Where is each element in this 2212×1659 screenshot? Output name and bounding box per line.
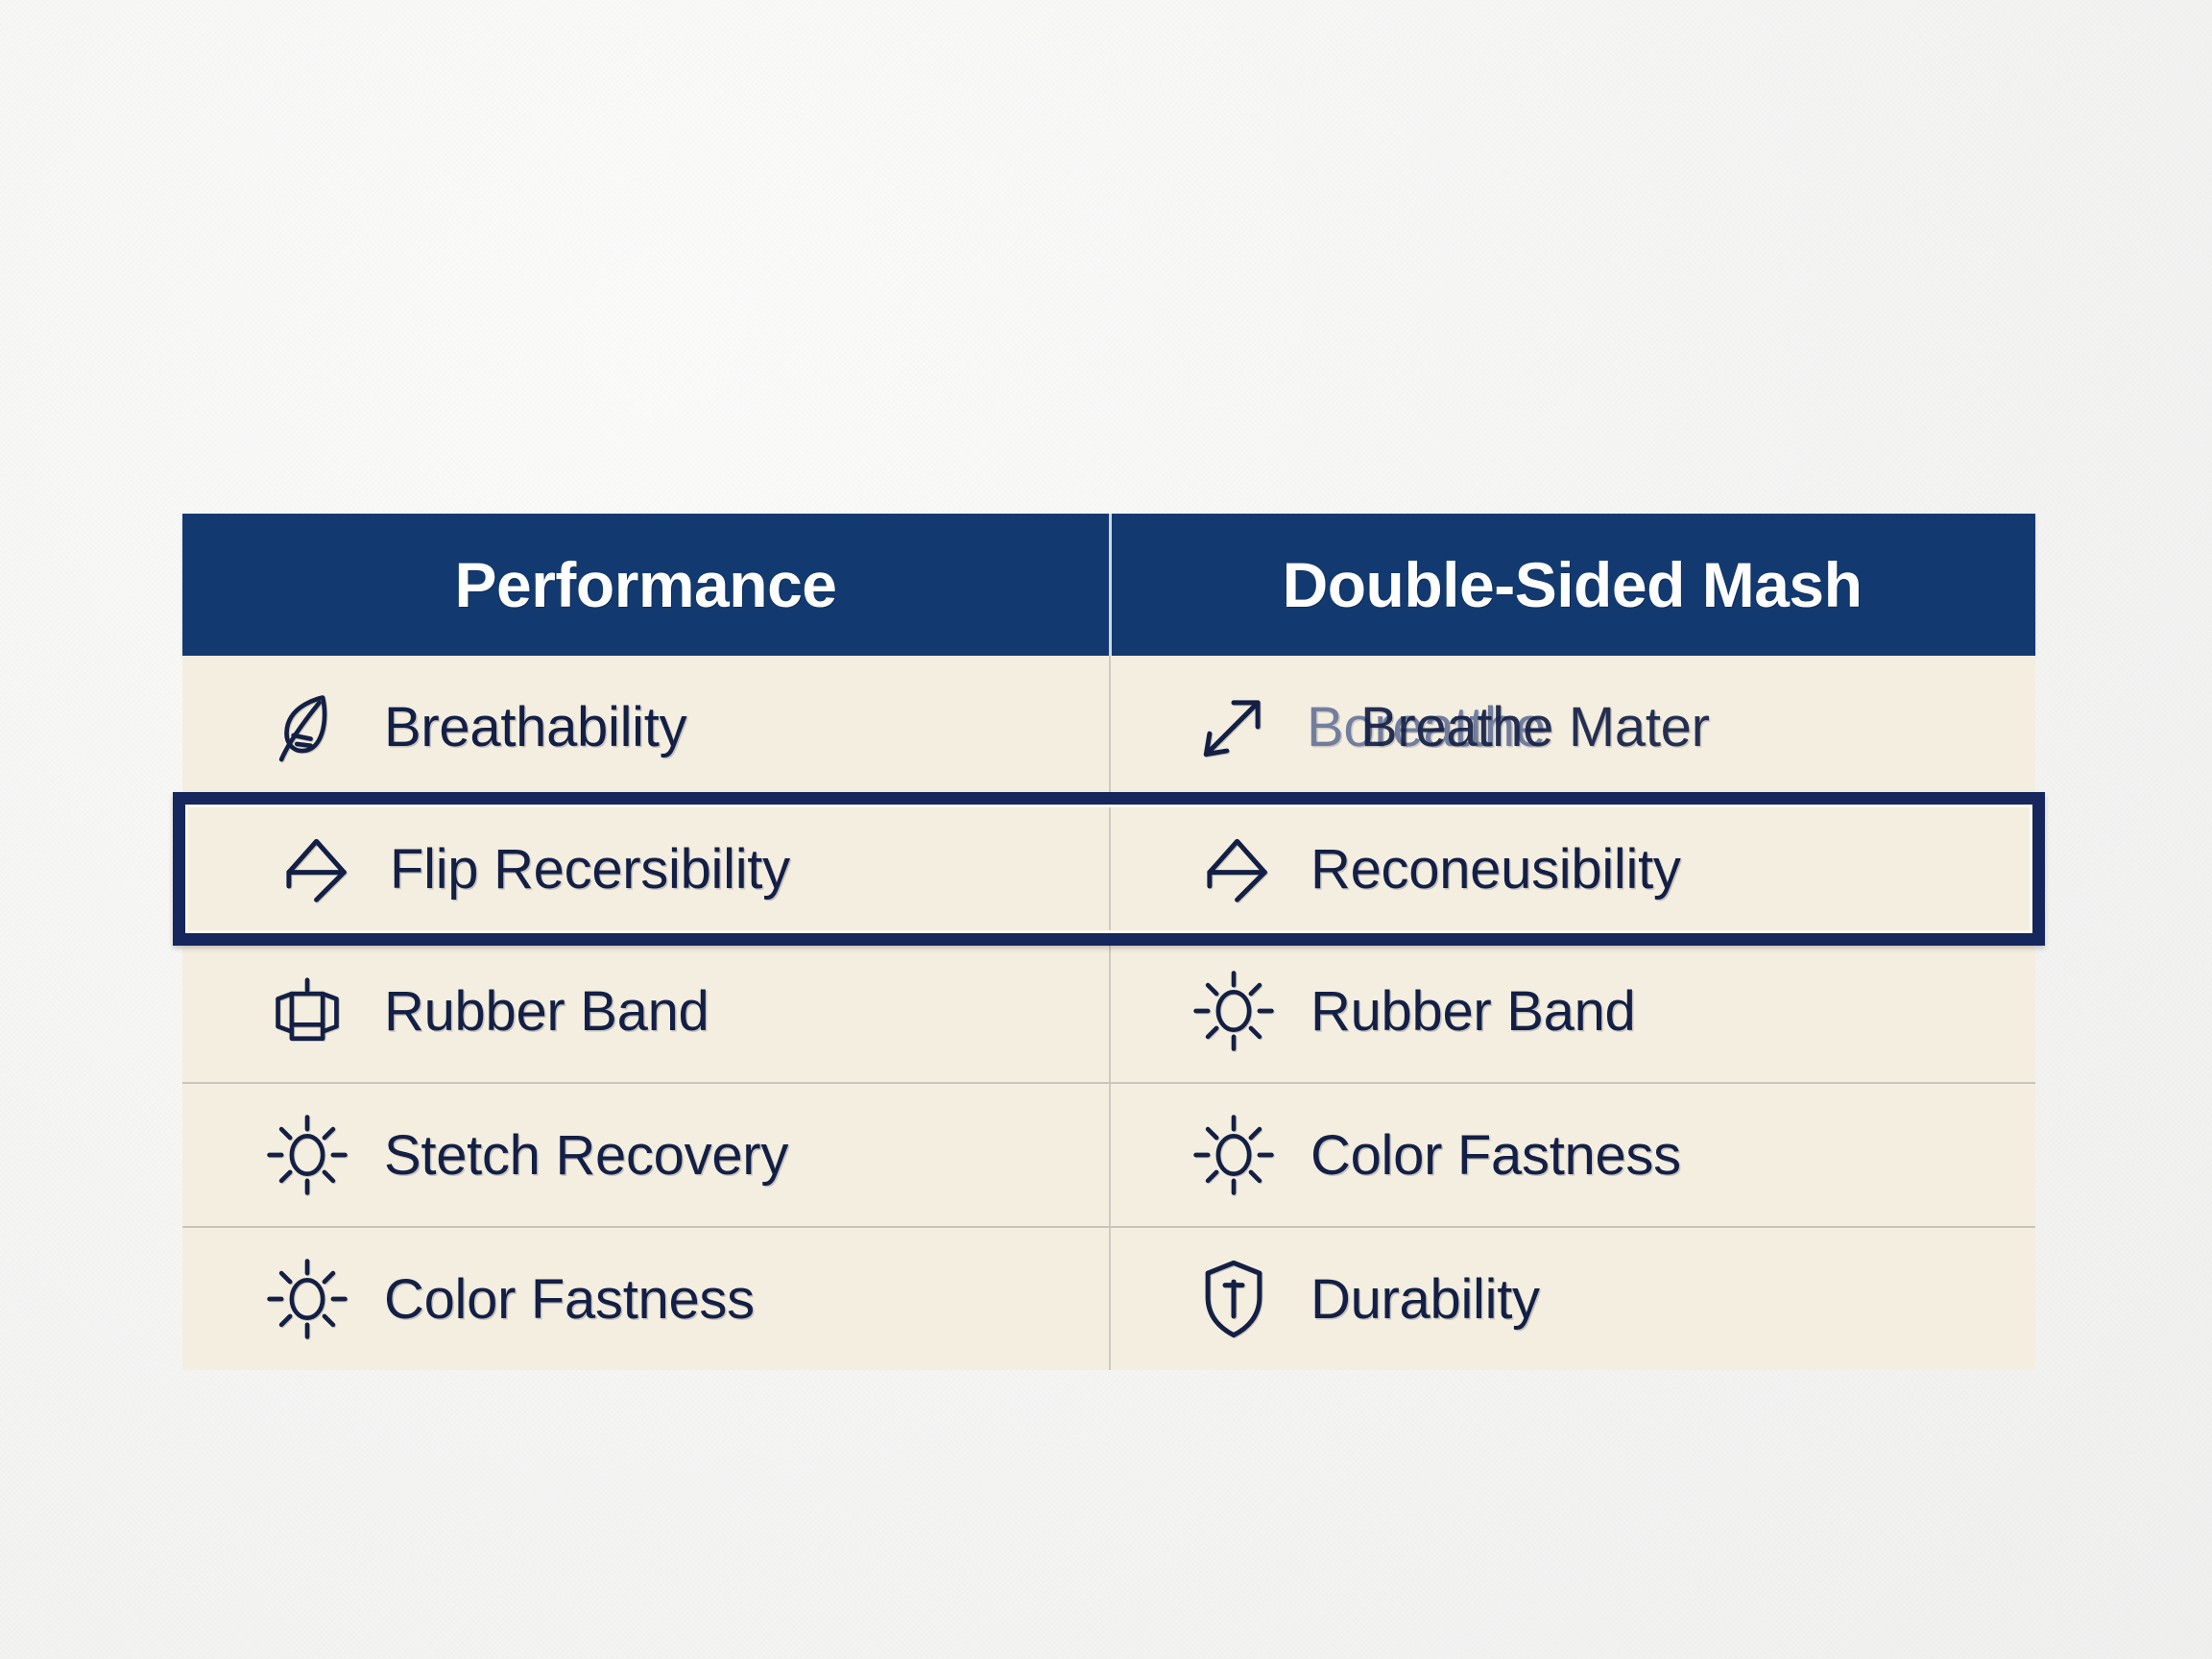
column-header-label: Double-Sided Mash xyxy=(1283,548,1863,621)
table-row-highlighted[interactable]: Flip Recersibility Reconeusibility xyxy=(173,792,2045,946)
table-cell[interactable]: Color Fastness xyxy=(1109,1084,2035,1226)
box-package-icon xyxy=(255,959,359,1063)
highlight-inner: Flip Recersibility Reconeusibility xyxy=(185,805,2032,933)
sun-icon xyxy=(1182,1103,1286,1207)
sun-icon xyxy=(1182,959,1286,1063)
table-cell[interactable]: Rubber Band xyxy=(182,940,1109,1082)
table-cell-label: Color Fastness xyxy=(1310,1123,1681,1188)
table-cell[interactable]: Color Fastness xyxy=(182,1228,1109,1370)
flip-arrow-icon xyxy=(261,817,365,921)
table-cell[interactable]: Rubber Band xyxy=(1109,940,2035,1082)
ghost-text-over: Breathe Mater xyxy=(1360,695,1710,759)
table-cell[interactable]: Durability xyxy=(1109,1228,2035,1370)
table-cell-label: Rubber Band xyxy=(1310,979,1636,1044)
table-row[interactable]: Rubber Band Rubber Band xyxy=(182,940,2035,1082)
table-cell[interactable]: Boreatthe Mater Boreatthe Breathe Mater xyxy=(1109,656,2035,798)
table-cell-label: Breathability xyxy=(384,695,686,759)
shield-icon xyxy=(1182,1247,1286,1351)
table-cell-label: Reconeusibility xyxy=(1310,837,1681,902)
sun-icon xyxy=(255,1247,359,1351)
leaf-icon xyxy=(255,675,359,779)
table-header-row: Performance Double-Sided Mash xyxy=(182,514,2035,656)
column-header-double-sided-mash: Double-Sided Mash xyxy=(1109,514,2035,656)
table-cell[interactable]: Stetch Recovery xyxy=(182,1084,1109,1226)
table-cell-label: Durability xyxy=(1310,1267,1540,1332)
table-row[interactable]: Stetch Recovery Color Fastness xyxy=(182,1082,2035,1226)
table-cell[interactable]: Reconeusibility xyxy=(1109,807,2030,930)
flip-arrow-icon xyxy=(1182,817,1286,921)
table-cell-label: Stetch Recovery xyxy=(384,1123,788,1188)
table-body: Breathability Boreatthe Mater Boreatthe … xyxy=(182,656,2035,1370)
table-row[interactable]: Color Fastness Durability xyxy=(182,1226,2035,1370)
table-cell-label: Boreatthe Mater Boreatthe Breathe Mater xyxy=(1310,695,1705,759)
table-row[interactable]: Breathability Boreatthe Mater Boreatthe … xyxy=(182,656,2035,798)
table-cell[interactable]: Flip Recersibility xyxy=(188,807,1109,930)
diagonal-double-arrow-icon xyxy=(1182,675,1286,779)
comparison-table: Performance Double-Sided Mash Breathabil… xyxy=(182,514,2035,1370)
column-header-label: Performance xyxy=(454,548,836,621)
table-cell[interactable]: Breathability xyxy=(182,656,1109,798)
table-cell-label: Flip Recersibility xyxy=(390,837,790,902)
sun-icon xyxy=(255,1103,359,1207)
table-cell-label: Rubber Band xyxy=(384,979,709,1044)
column-header-performance: Performance xyxy=(182,514,1109,656)
table-cell-label: Color Fastness xyxy=(384,1267,755,1332)
